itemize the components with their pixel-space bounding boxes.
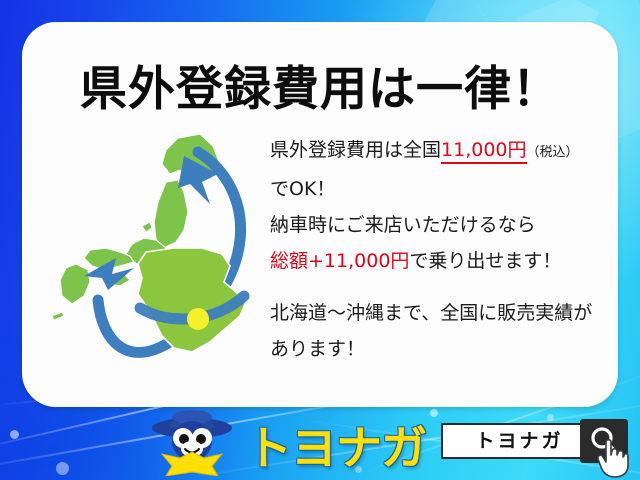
background-dot — [56, 462, 69, 475]
copy-line-1: 県外登録費用は全国11,000円（税込） — [270, 132, 610, 171]
copy-line-2: でOK！ — [270, 171, 610, 207]
search-input[interactable]: トヨナガ — [441, 423, 598, 459]
copy-line-1-prefix: 県外登録費用は全国 — [270, 139, 441, 161]
copy-line-3: 納車時にご来店いただけるなら — [270, 207, 610, 243]
promo-banner: 県外登録費用は一律！ — [0, 0, 640, 480]
brand-logo: トヨナガ — [142, 404, 432, 480]
copy-line-6: あります！ — [270, 331, 610, 367]
toyonaga-mascot-icon — [142, 404, 242, 476]
page-title: 県外登録費用は一律！ — [22, 50, 618, 119]
japan-map-icon — [50, 130, 280, 398]
brand-logo-text: トヨナガ — [246, 412, 426, 478]
price-amount-total: 総額+11,000円 — [270, 250, 409, 272]
content-card: 県外登録費用は一律！ — [22, 22, 618, 407]
price-amount-primary: 11,000円 — [441, 139, 526, 164]
tax-note: （税込） — [527, 145, 579, 160]
store-location-marker — [187, 308, 209, 330]
background-dot — [547, 414, 554, 421]
body-copy: 県外登録費用は全国11,000円（税込） でOK！ 納車時にご来店いただけるなら… — [270, 132, 610, 367]
search-input-value: トヨナガ — [443, 425, 596, 457]
copy-line-5: 北海道～沖縄まで、全国に販売実績が — [270, 295, 610, 331]
copy-line-4-suffix: で乗り出せます！ — [409, 250, 561, 272]
hand-pointer-cursor — [596, 438, 630, 478]
background-dot — [10, 430, 19, 439]
copy-spacer — [270, 279, 610, 295]
copy-line-4: 総額+11,000円で乗り出せます！ — [270, 243, 610, 279]
